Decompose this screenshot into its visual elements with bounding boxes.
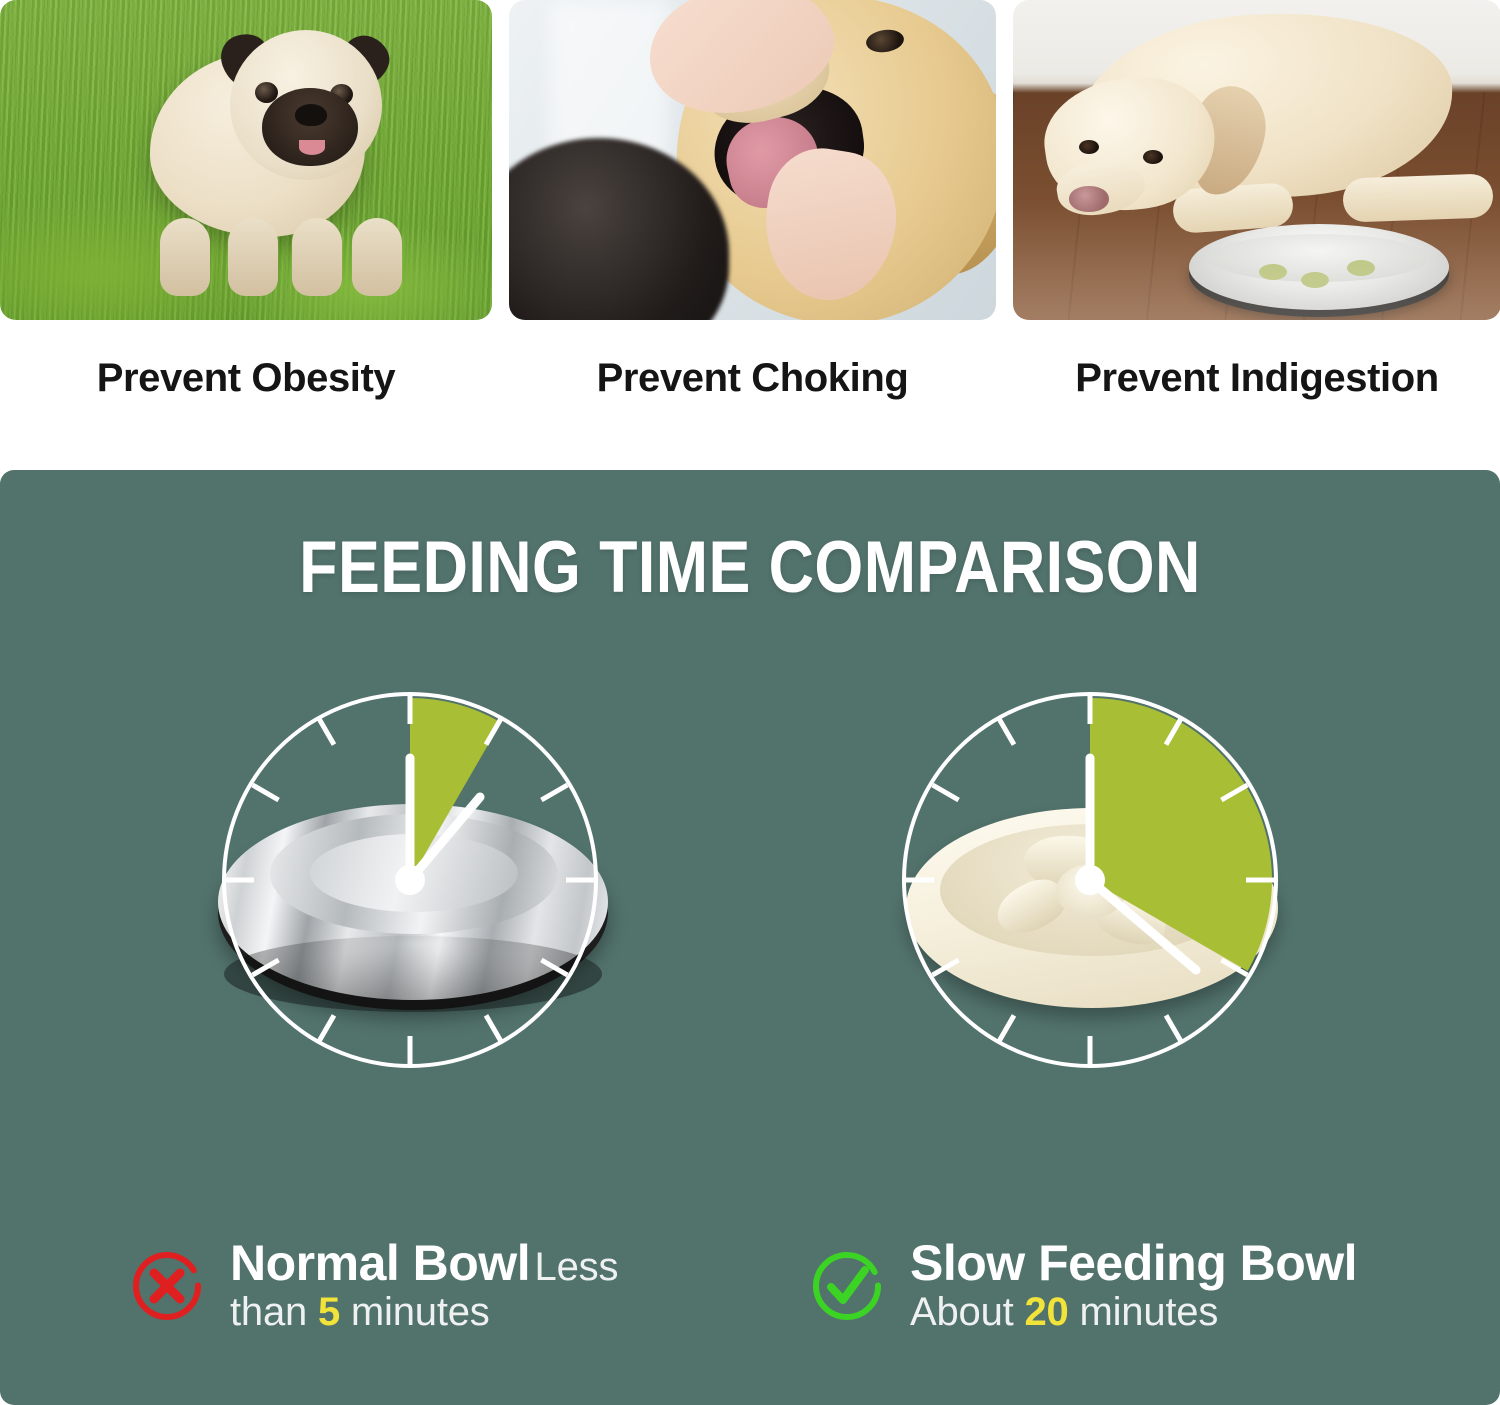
labrador-eye [1143,150,1163,164]
sub-suffix: minutes [1069,1290,1219,1334]
caption-prevent-obesity: Prevent Obesity [0,356,492,401]
clock-dial-normal [210,680,610,1080]
caption-prevent-indigestion: Prevent Indigestion [1013,356,1500,401]
photo-prevent-obesity [0,0,492,320]
sub-number: 5 [318,1290,340,1334]
label-text-normal-bowl: Normal Bowl Less than 5 minutes [230,1237,690,1335]
label-sub-slow-feeding-bowl: About 20 minutes [910,1290,1218,1334]
photo-prevent-indigestion [1013,0,1500,320]
label-title-slow-feeding-bowl: Slow Feeding Bowl [910,1235,1357,1291]
pug-leg [228,218,278,296]
floor-reflection [1013,200,1500,320]
comparison-panel: FEEDING TIME COMPARISON [0,470,1500,1405]
clock-dial-slow [890,680,1290,1080]
pug-tongue [299,140,325,155]
photo-strip [0,0,1500,320]
label-normal-bowl: Normal Bowl Less than 5 minutes [130,1211,690,1361]
wedge-20-minutes [1090,698,1272,971]
clock-center-cap [395,865,425,895]
wedge-5-minutes [410,698,501,880]
sub-suffix: minutes [340,1290,490,1334]
pug-leg [160,218,210,296]
check-circle-icon [810,1249,884,1323]
pug-leg [292,218,342,296]
clock-slow-feeding-bowl [880,670,1300,1120]
pug-nose [295,104,327,126]
clock-center-cap [1075,865,1105,895]
label-title-normal-bowl: Normal Bowl [230,1235,530,1291]
labrador-eye [1079,140,1099,154]
photo-captions: Prevent Obesity Prevent Choking Prevent … [0,318,1500,438]
sub-number: 20 [1024,1290,1068,1334]
label-text-slow-feeding-bowl: Slow Feeding Bowl About 20 minutes [910,1237,1370,1335]
photo-prevent-choking [509,0,996,320]
caption-prevent-choking: Prevent Choking [509,356,996,401]
clock-row [0,670,1500,1140]
pug-leg [352,218,402,296]
comparison-labels: Normal Bowl Less than 5 minutes Slow Fee… [0,1211,1500,1361]
sub-prefix: About [910,1290,1024,1334]
clock-normal-bowl [200,670,620,1120]
label-slow-feeding-bowl: Slow Feeding Bowl About 20 minutes [810,1211,1370,1361]
panel-title: FEEDING TIME COMPARISON [105,526,1395,609]
x-circle-icon [130,1249,204,1323]
